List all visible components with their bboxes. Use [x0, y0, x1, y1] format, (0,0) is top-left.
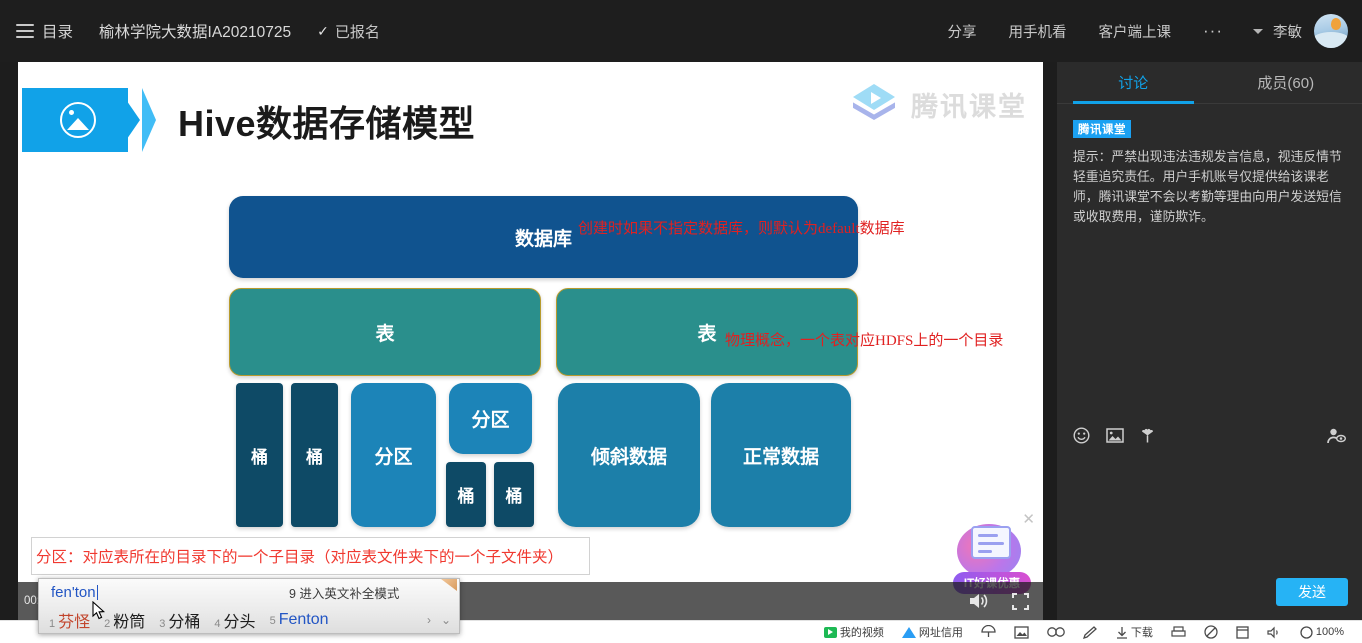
taskbar-label: 我的视频 [840, 624, 884, 640]
ime-candidate-1[interactable]: 1 芬怪 [49, 608, 90, 632]
close-icon[interactable]: ✕ [1022, 510, 1035, 528]
tab-members[interactable]: 成员(60) [1210, 62, 1362, 103]
header-left-group: 目录 榆林学院大数据IA20210725 ✓ 已报名 [0, 20, 380, 42]
taskbar-item-print[interactable] [1171, 626, 1186, 639]
triangle-shield-icon [902, 627, 916, 638]
candidate-word: Fenton [279, 611, 329, 629]
catalog-button[interactable]: 目录 [42, 20, 73, 42]
tab-discussion[interactable]: 讨论 [1057, 62, 1210, 103]
zoom-icon [1300, 626, 1313, 639]
user-name: 李敏 [1273, 21, 1302, 42]
share-button[interactable]: 分享 [948, 21, 977, 42]
check-icon: ✓ [317, 23, 329, 40]
send-button[interactable]: 发送 [1276, 578, 1348, 606]
candidate-number: 5 [270, 615, 276, 627]
video-play-icon [824, 627, 837, 638]
candidate-number: 1 [49, 618, 55, 630]
diagram-box-bucket-4: 桶 [494, 462, 534, 527]
diagram-box-partition-1: 分区 [351, 383, 436, 527]
candidate-number: 3 [159, 618, 165, 630]
candidate-word: 分桶 [168, 608, 200, 632]
enrolled-status[interactable]: ✓ 已报名 [317, 21, 380, 42]
annotation-database: 创建时如果不指定数据库，则默认为default数据库 [578, 217, 905, 238]
diagram-box-bucket-2: 桶 [291, 383, 338, 527]
mute-icon [1267, 626, 1282, 639]
print-icon [1171, 626, 1186, 639]
chat-input-area[interactable] [1057, 456, 1362, 582]
course-title[interactable]: 榆林学院大数据IA20210725 [99, 20, 291, 42]
pen-icon [1083, 626, 1098, 639]
diagram-box-skew-data: 倾斜数据 [558, 383, 700, 527]
diagram-box-partition-2: 分区 [449, 383, 532, 454]
mouse-cursor [92, 601, 106, 621]
volume-icon[interactable] [968, 591, 990, 611]
link-icon [1047, 626, 1065, 638]
umbrella-icon [981, 625, 996, 639]
taskbar-item-window[interactable] [1236, 626, 1249, 639]
taskbar-label: 网址信用 [919, 624, 963, 640]
text-caret [97, 585, 98, 600]
screenshot-icon [1014, 626, 1029, 639]
ime-typed-text: fen'ton [39, 584, 96, 601]
annotation-partition-text: 分区：对应表所在的目录下的一个子目录（对应表文件夹下的一个子文件夹） [36, 545, 563, 567]
taskbar-item-site-credit[interactable]: 网址信用 [902, 624, 963, 640]
fullscreen-icon[interactable] [1012, 593, 1029, 610]
more-options-icon[interactable]: ··· [1203, 21, 1223, 41]
taskbar-label: 100% [1316, 626, 1344, 638]
emoji-icon[interactable] [1073, 427, 1090, 444]
taskbar-item-umbrella[interactable] [981, 625, 996, 639]
candidate-word: 芬怪 [58, 608, 90, 632]
ime-candidate-4[interactable]: 4 分头 [214, 608, 255, 632]
sidebar-tabs: 讨论 成员(60) [1057, 62, 1362, 104]
right-sidebar: 讨论 成员(60) 腾讯课堂 提示：严禁出现违法违规发言信息，视违反情节轻重追究… [1057, 62, 1362, 620]
taskbar-label: 下载 [1131, 624, 1153, 640]
avatar[interactable] [1314, 14, 1348, 48]
ime-nav-group: › ⌄ [427, 613, 459, 627]
diagram-box-table-1: 表 [229, 288, 541, 376]
taskbar-item-mute[interactable] [1267, 626, 1282, 639]
taskbar-item-screenshot[interactable] [1014, 626, 1029, 639]
chevron-down-icon [1253, 29, 1263, 34]
video-controls-right [968, 591, 1043, 611]
message-text: 提示：严禁出现违法违规发言信息，视违反情节轻重追究责任。用户手机账号仅提供给该课… [1073, 147, 1348, 227]
taskbar-item-download[interactable]: 下载 [1116, 624, 1153, 640]
image-icon[interactable] [1106, 428, 1124, 443]
candidate-word: 粉筒 [113, 608, 145, 632]
mobile-watch-button[interactable]: 用手机看 [1009, 21, 1067, 42]
user-menu[interactable]: 李敏 [1253, 21, 1302, 42]
diagram-box-bucket-3: 桶 [446, 462, 486, 527]
flower-icon[interactable] [1140, 427, 1155, 444]
ime-expand-icon[interactable]: ⌄ [441, 613, 451, 627]
ime-next-page-icon[interactable]: › [427, 613, 431, 627]
annotation-partition-box[interactable]: 分区：对应表所在的目录下的一个子目录（对应表文件夹下的一个子文件夹） [31, 537, 590, 575]
diagram-box-bucket-1: 桶 [236, 383, 283, 527]
ime-candidate-3[interactable]: 3 分桶 [159, 608, 200, 632]
ime-hint: 9 进入英文补全模式 [289, 583, 399, 602]
annotation-table: 物理概念，一个表对应HDFS上的一个目录 [725, 329, 1003, 350]
ime-candidate-5[interactable]: 5 Fenton [270, 611, 329, 629]
message-sender-badge: 腾讯课堂 [1073, 120, 1131, 138]
taskbar-item-no-ad[interactable] [1204, 625, 1218, 639]
taskbar-item-link[interactable] [1047, 626, 1065, 638]
window-icon [1236, 626, 1249, 639]
hamburger-icon[interactable] [16, 24, 34, 38]
tencent-classroom-window: 目录 榆林学院大数据IA20210725 ✓ 已报名 分享 用手机看 客户端上课… [0, 0, 1362, 643]
at-user-icon[interactable] [1327, 427, 1346, 444]
chat-toolbar [1057, 414, 1362, 456]
enrolled-label: 已报名 [335, 21, 380, 42]
candidate-word: 分头 [224, 608, 256, 632]
no-ad-icon [1204, 625, 1218, 639]
download-icon [1116, 626, 1128, 639]
taskbar-item-my-video[interactable]: 我的视频 [824, 624, 884, 640]
client-class-button[interactable]: 客户端上课 [1099, 21, 1172, 42]
ime-corner-flag-icon [441, 579, 457, 591]
diagram-box-normal-data: 正常数据 [711, 383, 851, 527]
header-right-group: 分享 用手机看 客户端上课 ··· 李敏 [916, 14, 1362, 48]
candidate-number: 4 [214, 618, 220, 630]
taskbar-item-pen[interactable] [1083, 626, 1098, 639]
browser-window-icon [971, 526, 1011, 559]
chat-message: 腾讯课堂 提示：严禁出现违法违规发言信息，视违反情节轻重追究责任。用户手机账号仅… [1057, 104, 1362, 227]
top-header-bar: 目录 榆林学院大数据IA20210725 ✓ 已报名 分享 用手机看 客户端上课… [0, 0, 1362, 62]
ime-candidate-2[interactable]: 2 粉筒 [104, 608, 145, 632]
taskbar-item-zoom[interactable]: 100% [1300, 626, 1344, 639]
